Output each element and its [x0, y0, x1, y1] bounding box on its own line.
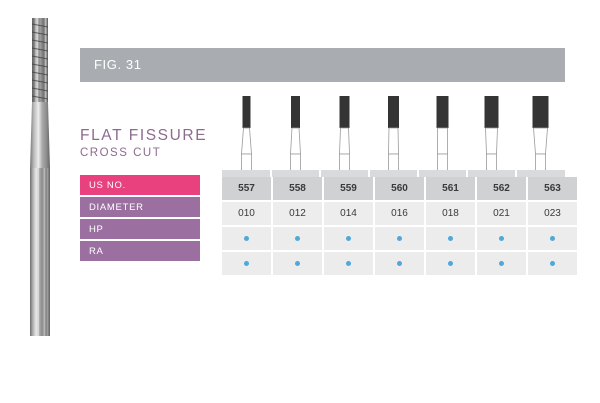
figure-header-bar: FIG. 31	[80, 48, 565, 82]
cell-ra	[374, 251, 425, 275]
bur-diagram-562	[467, 88, 516, 176]
cell-hp	[374, 226, 425, 251]
cell-diameter: 010	[222, 201, 272, 226]
availability-dot-icon	[295, 261, 300, 266]
availability-dot-icon	[346, 236, 351, 241]
cell-us-no: 561	[425, 177, 476, 201]
cell-us-no: 558	[272, 177, 323, 201]
availability-dot-icon	[244, 261, 249, 266]
availability-dot-icon	[499, 261, 504, 266]
row-label-diameter: DIAMETER	[80, 197, 200, 217]
cell-ra	[425, 251, 476, 275]
cell-hp	[222, 226, 272, 251]
bur-diagram-558	[271, 88, 320, 176]
cell-diameter: 016	[374, 201, 425, 226]
cell-ra	[222, 251, 272, 275]
cell-hp	[527, 226, 577, 251]
bur-diagram-561	[418, 88, 467, 176]
row-label-column: US NO. DIAMETER HP RA	[80, 175, 200, 263]
cell-ra	[527, 251, 577, 275]
cell-us-no: 562	[476, 177, 527, 201]
availability-dot-icon	[397, 236, 402, 241]
row-label-text: US NO.	[89, 180, 126, 191]
cell-hp	[272, 226, 323, 251]
cell-hp	[476, 226, 527, 251]
cell-hp	[323, 226, 374, 251]
table-row-diameter: 010 012 014 016 018 021 023	[222, 201, 577, 226]
row-label-ra: RA	[80, 241, 200, 261]
figure-label: FIG. 31	[94, 57, 142, 72]
product-chart-page: FIG. 31 FLAT FISSURE CROSS CUT US NO. DI…	[0, 0, 600, 403]
bur-diagram-559	[320, 88, 369, 176]
cell-hp	[425, 226, 476, 251]
cell-ra	[323, 251, 374, 275]
cell-ra	[272, 251, 323, 275]
cell-diameter: 021	[476, 201, 527, 226]
row-label-text: RA	[89, 246, 104, 257]
availability-dot-icon	[346, 261, 351, 266]
cell-us-no: 560	[374, 177, 425, 201]
availability-dot-icon	[448, 236, 453, 241]
bur-diagram-560	[369, 88, 418, 176]
page-subtitle: CROSS CUT	[80, 147, 215, 159]
availability-dot-icon	[397, 261, 402, 266]
hero-bur-photo	[18, 18, 62, 336]
page-title: FLAT FISSURE	[80, 127, 215, 144]
cell-us-no: 563	[527, 177, 577, 201]
row-label-us-no: US NO.	[80, 175, 200, 195]
availability-dot-icon	[448, 261, 453, 266]
specifications-table: 557 558 559 560 561 562 563 010 012 014 …	[222, 177, 577, 275]
table-row-ra	[222, 251, 577, 275]
row-label-hp: HP	[80, 219, 200, 239]
cell-diameter: 012	[272, 201, 323, 226]
product-title-block: FLAT FISSURE CROSS CUT	[80, 127, 215, 159]
bur-diagram-557	[222, 88, 271, 176]
row-label-text: DIAMETER	[89, 202, 144, 213]
bur-diagram-563	[516, 88, 565, 176]
bur-baseline-strip	[222, 170, 565, 177]
cell-diameter: 023	[527, 201, 577, 226]
availability-dot-icon	[550, 236, 555, 241]
bur-diagram-row	[222, 88, 565, 176]
table-row-hp	[222, 226, 577, 251]
cell-ra	[476, 251, 527, 275]
availability-dot-icon	[499, 236, 504, 241]
availability-dot-icon	[244, 236, 249, 241]
availability-dot-icon	[550, 261, 555, 266]
cell-diameter: 014	[323, 201, 374, 226]
cell-us-no: 557	[222, 177, 272, 201]
cell-diameter: 018	[425, 201, 476, 226]
availability-dot-icon	[295, 236, 300, 241]
cell-us-no: 559	[323, 177, 374, 201]
table-row-us-no: 557 558 559 560 561 562 563	[222, 177, 577, 201]
row-label-text: HP	[89, 224, 104, 235]
